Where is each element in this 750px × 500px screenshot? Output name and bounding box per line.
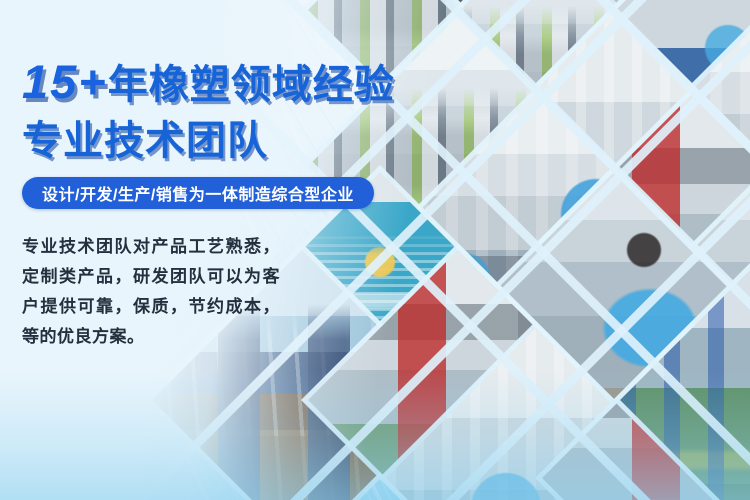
capability-badge: 设计/开发/生产/销售为一体制造综合型企业 — [22, 177, 374, 209]
headline-line-2: 专业技术团队 — [22, 108, 268, 166]
banner-text-block: 15+年橡塑领域经验 专业技术团队 设计/开发/生产/销售为一体制造综合型企业 … — [0, 0, 470, 500]
headline-line-1-text: 年橡塑领域经验 — [108, 63, 395, 107]
body-copy: 专业技术团队对产品工艺熟悉，定制类产品，研发团队可以为客户提供可靠，保质，节约成… — [22, 232, 280, 352]
headline-number: 15+ — [22, 55, 108, 108]
promo-banner: 15+年橡塑领域经验 专业技术团队 设计/开发/生产/销售为一体制造综合型企业 … — [0, 0, 750, 500]
capability-badge-label: 设计/开发/生产/销售为一体制造综合型企业 — [42, 181, 354, 205]
headline-line-1: 15+年橡塑领域经验 — [22, 52, 395, 110]
